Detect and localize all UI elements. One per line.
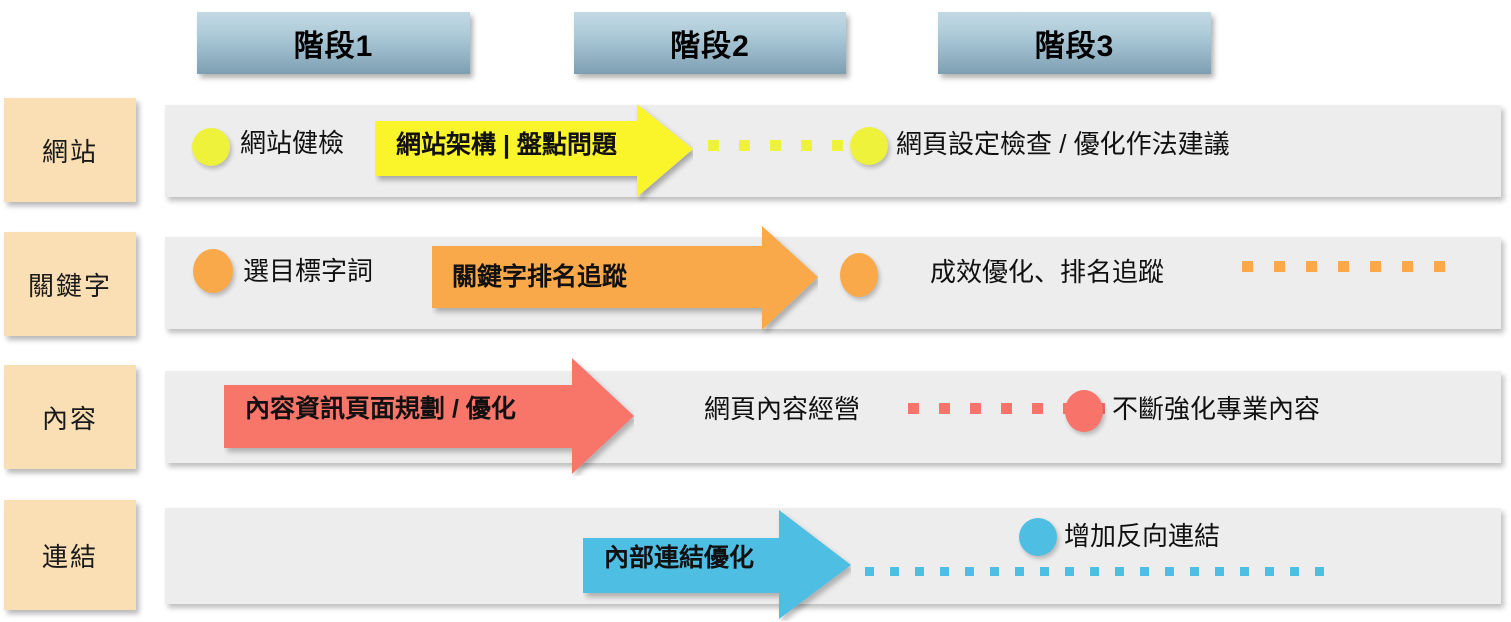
arrow-website-label: 網站架構 | 盤點問題	[396, 133, 617, 158]
category-label-website[interactable]: 網站	[4, 98, 136, 202]
category-label-content-text: 內容	[42, 399, 98, 436]
category-label-content[interactable]: 內容	[4, 365, 136, 469]
row-keyword-stage1-text: 選目標字詞	[243, 258, 373, 284]
category-label-keyword[interactable]: 關鍵字	[4, 232, 136, 336]
category-label-link-text: 連結	[42, 537, 98, 574]
row-link-stage3-text: 增加反向連結	[1064, 523, 1220, 549]
row-website-stage1-text: 網站健檢	[240, 130, 344, 156]
category-label-website-text: 網站	[42, 132, 98, 169]
phase-chip-1[interactable]: 階段1	[197, 12, 470, 74]
bullet-dot-website-stage1	[192, 128, 230, 166]
row-panel-website	[165, 105, 1501, 197]
category-label-keyword-text: 關鍵字	[28, 266, 112, 303]
arrow-link-label: 內部連結優化	[604, 546, 754, 571]
phase-chip-1-label: 階段1	[294, 21, 374, 65]
bullet-dot-link-stage3	[1019, 518, 1057, 556]
phase-chip-3[interactable]: 階段3	[938, 12, 1211, 74]
diagram-canvas: 階段1 階段2 階段3 網站 關鍵字 內容 連結 網站健檢 網站架構	[0, 0, 1511, 622]
row-content-stage3-text: 不斷強化專業內容	[1112, 396, 1320, 422]
bullet-dot-keyword-stage2	[840, 253, 878, 297]
phase-chip-3-label: 階段3	[1035, 21, 1115, 65]
phase-chip-2[interactable]: 階段2	[574, 12, 846, 74]
bullet-dot-website-stage3	[850, 127, 888, 165]
dotted-connector-website	[708, 140, 843, 151]
bullet-dot-keyword-stage1	[193, 249, 233, 293]
row-content-stage2-text: 網頁內容經營	[704, 396, 860, 422]
arrow-content-label: 內容資訊頁面規劃 / 優化	[245, 397, 516, 422]
dotted-connector-link	[865, 567, 1324, 576]
row-keyword-stage2-text: 成效優化、排名追蹤	[930, 259, 1164, 285]
bullet-dot-content-stage3	[1065, 390, 1103, 432]
row-website-stage3-text: 網頁設定檢查 / 優化作法建議	[896, 131, 1230, 157]
phase-chip-2-label: 階段2	[670, 21, 750, 65]
dotted-connector-keyword	[1242, 261, 1445, 272]
arrow-keyword-label: 關鍵字排名追蹤	[452, 265, 627, 290]
category-label-link[interactable]: 連結	[4, 500, 136, 610]
